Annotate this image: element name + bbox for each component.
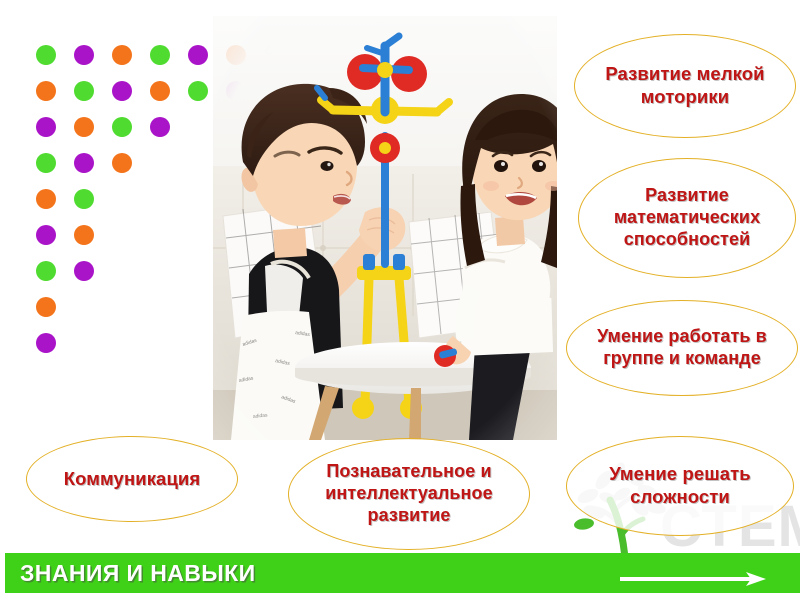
decor-dot xyxy=(150,81,170,101)
callout-communication: Коммуникация xyxy=(26,436,238,522)
decor-dot xyxy=(36,45,56,65)
decor-dot xyxy=(150,45,170,65)
decor-dot xyxy=(74,153,94,173)
decor-dot xyxy=(36,261,56,281)
right-arrow-icon xyxy=(620,572,768,586)
callout-problem-solving-label: Умение решать сложности xyxy=(576,463,784,508)
decor-dot xyxy=(36,297,56,317)
callout-communication-label: Коммуникация xyxy=(32,468,232,491)
decor-dot xyxy=(112,117,132,137)
decor-dot xyxy=(188,81,208,101)
decor-dot xyxy=(112,45,132,65)
decor-dot xyxy=(112,81,132,101)
callout-problem-solving: Умение решать сложности xyxy=(566,436,794,536)
decor-dot xyxy=(36,81,56,101)
decor-dot xyxy=(36,333,56,353)
decor-dot xyxy=(36,189,56,209)
decor-dot xyxy=(74,261,94,281)
callout-teamwork-label: Умение работать в группе и команде xyxy=(570,326,794,370)
callout-math-ability: Развитие математических способностей xyxy=(578,158,796,278)
decor-dot xyxy=(74,117,94,137)
callout-fine-motor-skills: Развитие мелкой моторики xyxy=(574,34,796,138)
callout-cognitive-development: Познавательное и интеллектуальное развит… xyxy=(288,438,530,550)
decor-dot xyxy=(74,189,94,209)
callout-math-ability-label: Развитие математических способностей xyxy=(585,185,790,251)
callout-cognitive-development-label: Познавательное и интеллектуальное развит… xyxy=(294,461,524,527)
decor-dot xyxy=(112,153,132,173)
decor-dot xyxy=(74,225,94,245)
callout-teamwork: Умение работать в группе и команде xyxy=(566,300,798,396)
decor-dot xyxy=(36,225,56,245)
children-playing-photo: adidas adidas adidas adidas adidas adida… xyxy=(213,16,557,440)
decor-dot xyxy=(74,45,94,65)
decor-dot xyxy=(150,117,170,137)
decor-dot xyxy=(188,45,208,65)
banner-title: ЗНАНИЯ И НАВЫКИ xyxy=(20,560,256,587)
callout-fine-motor-skills-label: Развитие мелкой моторики xyxy=(585,63,785,108)
slide-canvas: СТЕМ xyxy=(0,0,800,600)
decor-dot xyxy=(74,81,94,101)
decor-dot xyxy=(36,117,56,137)
decor-dot xyxy=(36,153,56,173)
